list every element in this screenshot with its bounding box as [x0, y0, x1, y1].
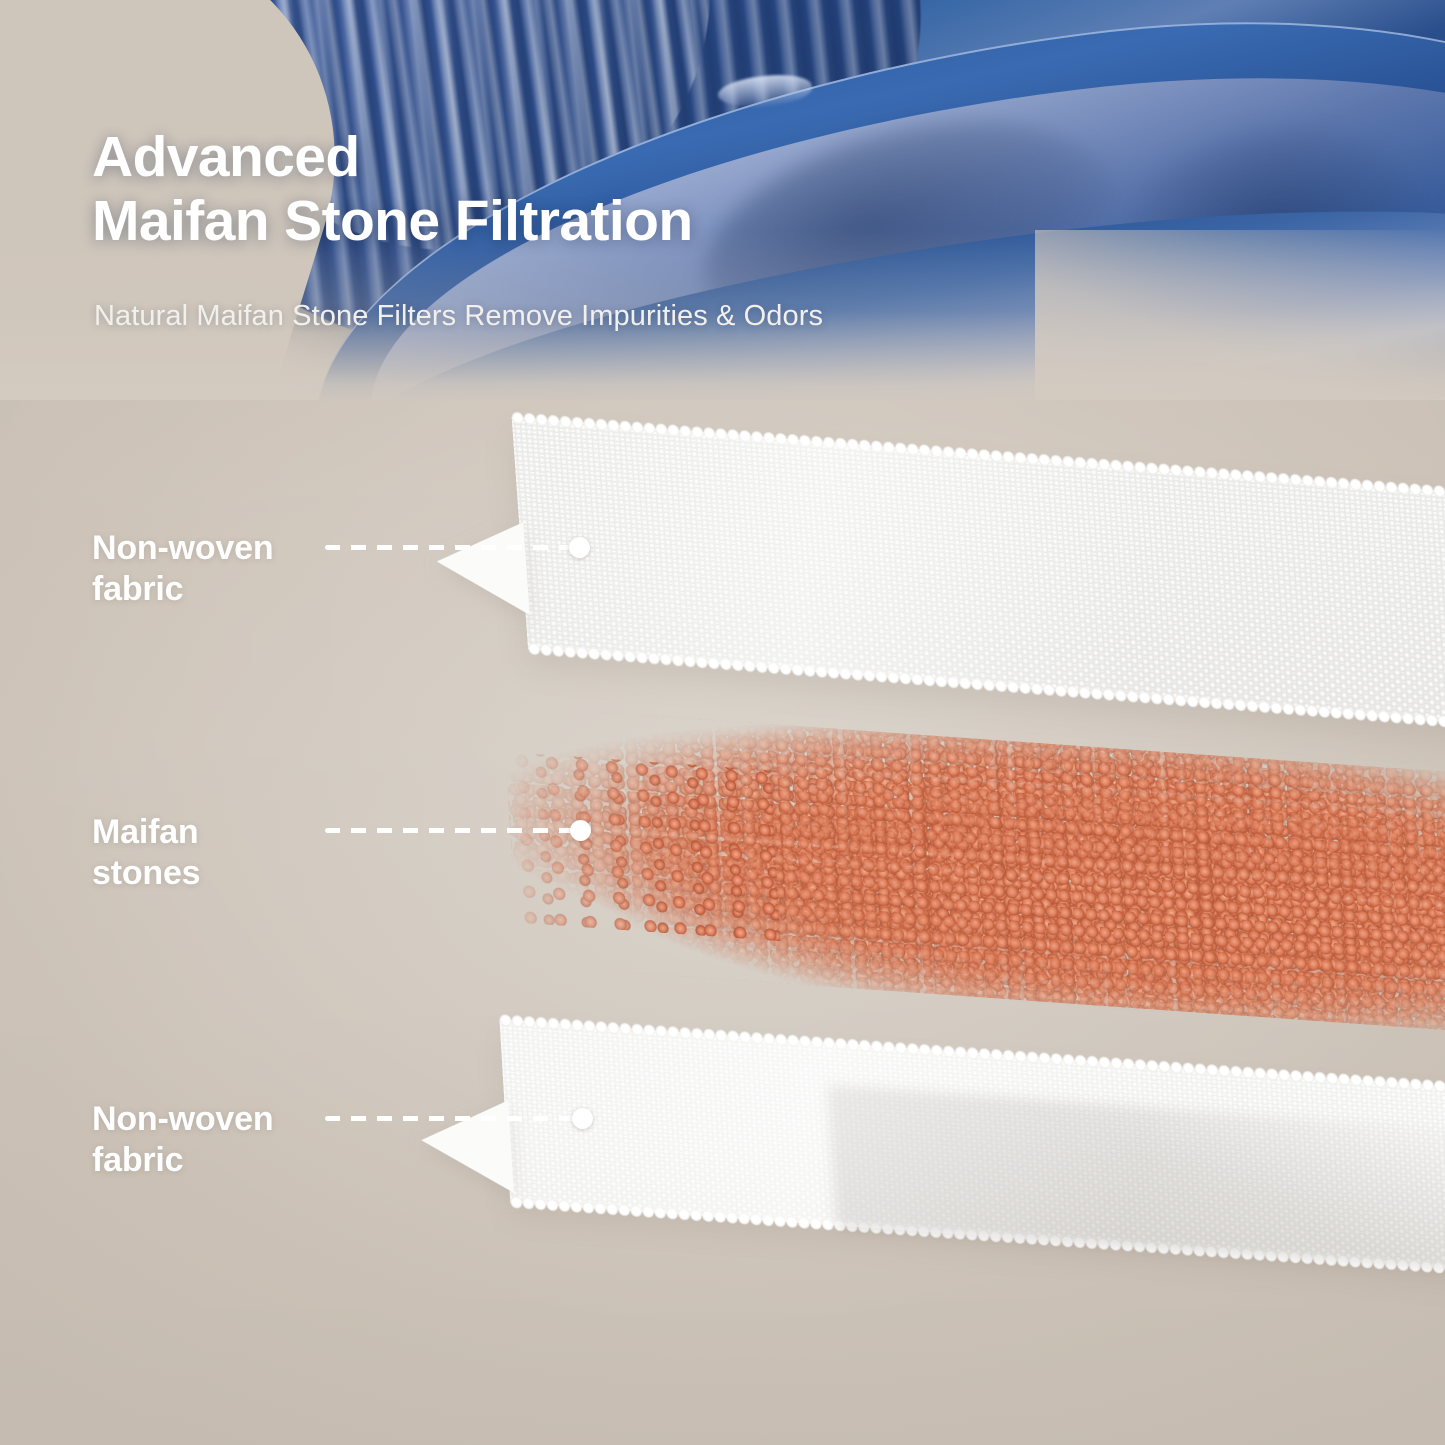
page-title: Advanced Maifan Stone Filtration: [92, 126, 1092, 254]
stone-granules-scatter: [511, 752, 780, 941]
leader-line-maifan-stones: [325, 828, 577, 833]
product-infographic: Advanced Maifan Stone Filtration Natural…: [0, 0, 1445, 1445]
leader-line-non-woven-fabric-bottom: [325, 1116, 577, 1121]
leader-dot-non-woven-fabric-bottom: [572, 1108, 593, 1129]
sheet-nose-bottom: [418, 1094, 513, 1193]
leader-dot-non-woven-fabric-top: [569, 537, 590, 558]
callout-label-maifan-stones: Maifan stones: [92, 812, 200, 895]
leader-dot-maifan-stones: [570, 820, 591, 841]
leader-line-non-woven-fabric-top: [325, 545, 577, 550]
sheet-nose-top: [433, 515, 529, 615]
page-subtitle: Natural Maifan Stone Filters Remove Impu…: [94, 300, 823, 333]
callout-label-non-woven-fabric-bottom: Non-woven fabric: [92, 1099, 273, 1182]
callout-label-non-woven-fabric-top: Non-woven fabric: [92, 528, 273, 611]
